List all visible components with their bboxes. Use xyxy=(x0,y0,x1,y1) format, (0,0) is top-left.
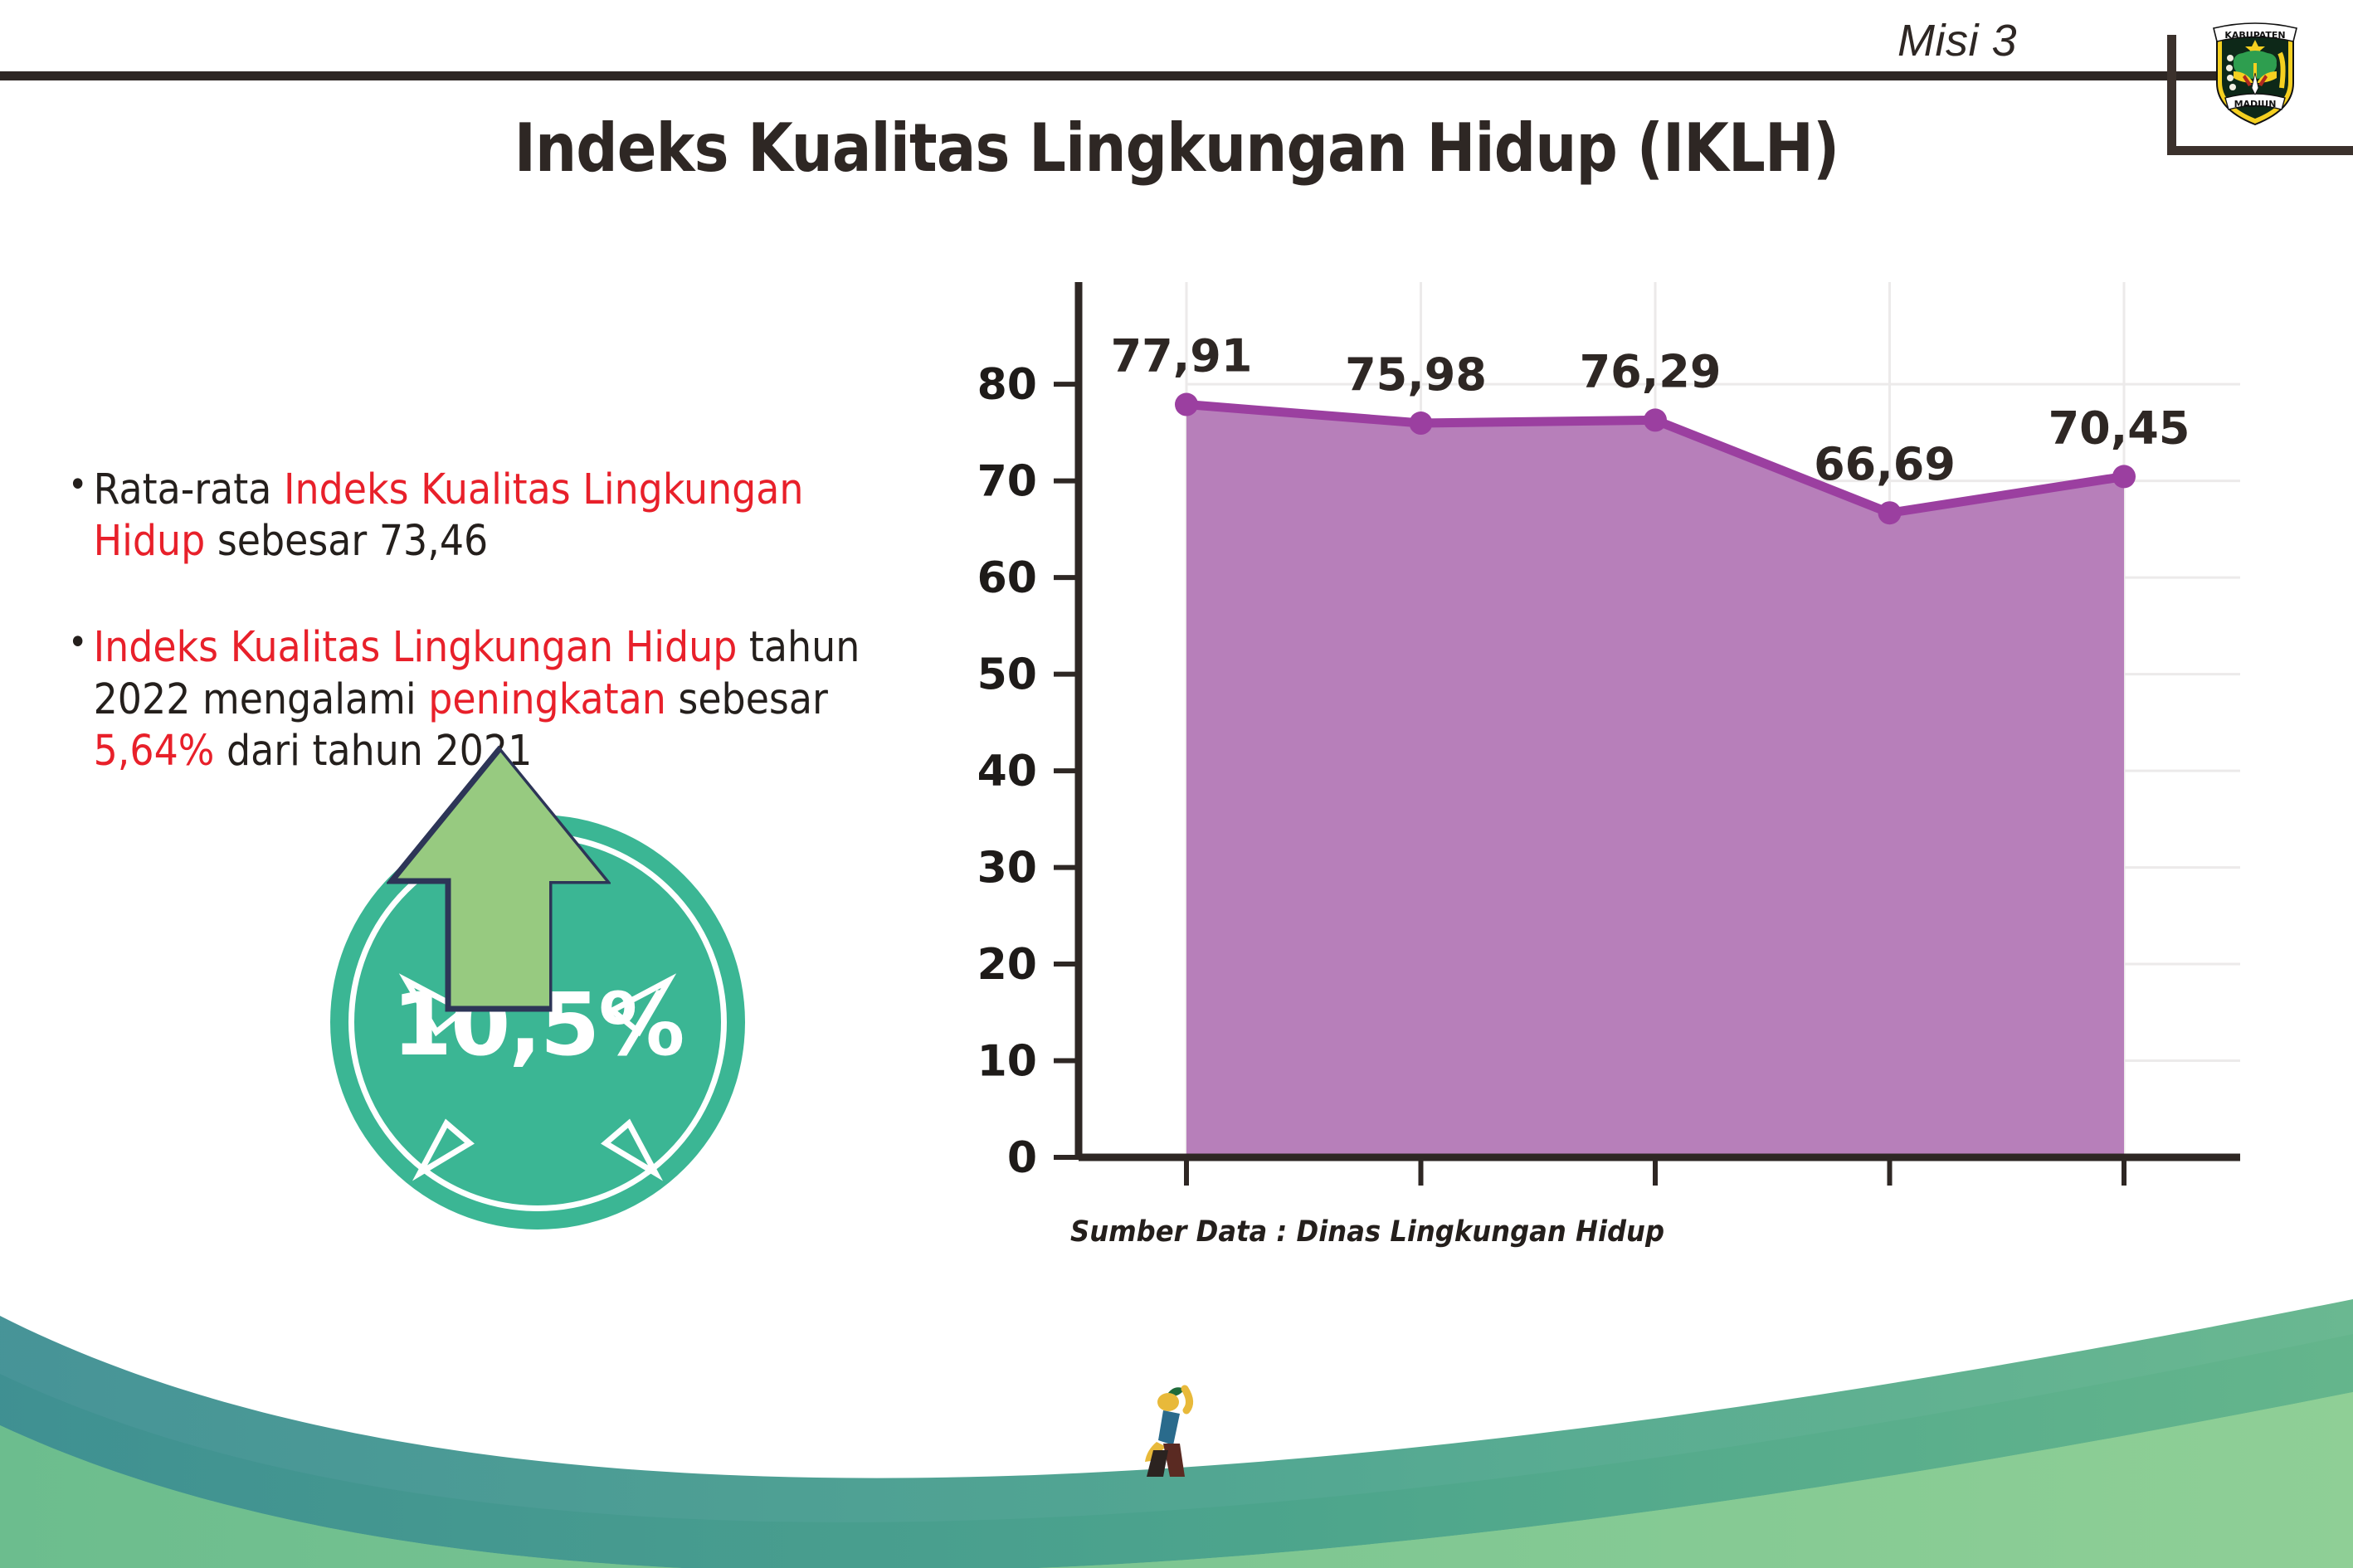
chart-data-point xyxy=(2112,465,2136,488)
source-note: Sumber Data : Dinas Lingkungan Hidup xyxy=(1070,1215,1664,1249)
bullet-2-text-1: Indeks Kualitas Lingkungan Hidup xyxy=(94,623,738,672)
mission-label: Misi 3 xyxy=(1898,15,2017,66)
chart-y-tick-label: 60 xyxy=(979,553,1037,603)
chart-y-tick-label: 0 xyxy=(1007,1133,1037,1183)
bullet-2-text-5: 5,64% xyxy=(94,727,215,776)
bullet-2-text-4: sebesar xyxy=(666,675,828,724)
header-divider-rule xyxy=(0,71,2240,80)
chart-y-tick-label: 10 xyxy=(979,1037,1037,1087)
chart-data-point xyxy=(1644,408,1667,431)
chart-area-fill xyxy=(1186,405,2124,1157)
bullet-item-average: Rata-rata Indeks Kualitas Lingkungan Hid… xyxy=(68,465,897,567)
iklh-area-chart: 77,9175,9876,2966,6970,45010203040506070… xyxy=(979,274,2273,1203)
statistics-figure-logo-icon xyxy=(1138,1374,1215,1480)
up-arrow-icon xyxy=(387,745,611,1019)
chart-data-label: 66,69 xyxy=(1814,438,1956,490)
chart-data-label: 76,29 xyxy=(1580,345,1722,397)
chart-y-tick-label: 50 xyxy=(979,650,1037,700)
chart-y-tick-label: 70 xyxy=(979,457,1037,507)
chart-data-label: 75,98 xyxy=(1345,348,1487,401)
chart-y-tick-label: 20 xyxy=(979,940,1037,990)
chart-data-point xyxy=(1410,411,1433,435)
chart-y-tick-label: 40 xyxy=(979,747,1037,796)
chart-data-label: 70,45 xyxy=(2049,402,2190,454)
chart-data-label: 77,91 xyxy=(1111,330,1253,382)
chart-x-tick-label: 2022 xyxy=(2058,1200,2189,1203)
chart-x-tick-label: 2019 xyxy=(1356,1200,1486,1203)
bullet-1-text-3: sebesar 73,46 xyxy=(205,517,488,566)
chart-y-tick-label: 30 xyxy=(979,844,1037,894)
chart-data-point xyxy=(1175,393,1198,416)
chart-x-tick-label: 2018 xyxy=(1121,1200,1251,1203)
chart-data-point xyxy=(1878,501,1902,524)
chart-x-tick-label: 2021 xyxy=(1824,1200,1955,1203)
chart-y-tick-label: 80 xyxy=(979,360,1037,410)
page-title: Indeks Kualitas Lingkungan Hidup (IKLH) xyxy=(141,110,2212,187)
bullet-1-text-1: Rata-rata xyxy=(94,465,284,514)
kabupaten-madiun-crest-icon: KABUPATEN MADIUN xyxy=(2209,12,2302,128)
svg-text:MADIUN: MADIUN xyxy=(2234,99,2277,110)
svg-text:KABUPATEN: KABUPATEN xyxy=(2224,30,2285,41)
chart-x-tick-label: 2020 xyxy=(1590,1200,1720,1203)
bullet-2-text-3: peningkatan xyxy=(428,675,666,724)
